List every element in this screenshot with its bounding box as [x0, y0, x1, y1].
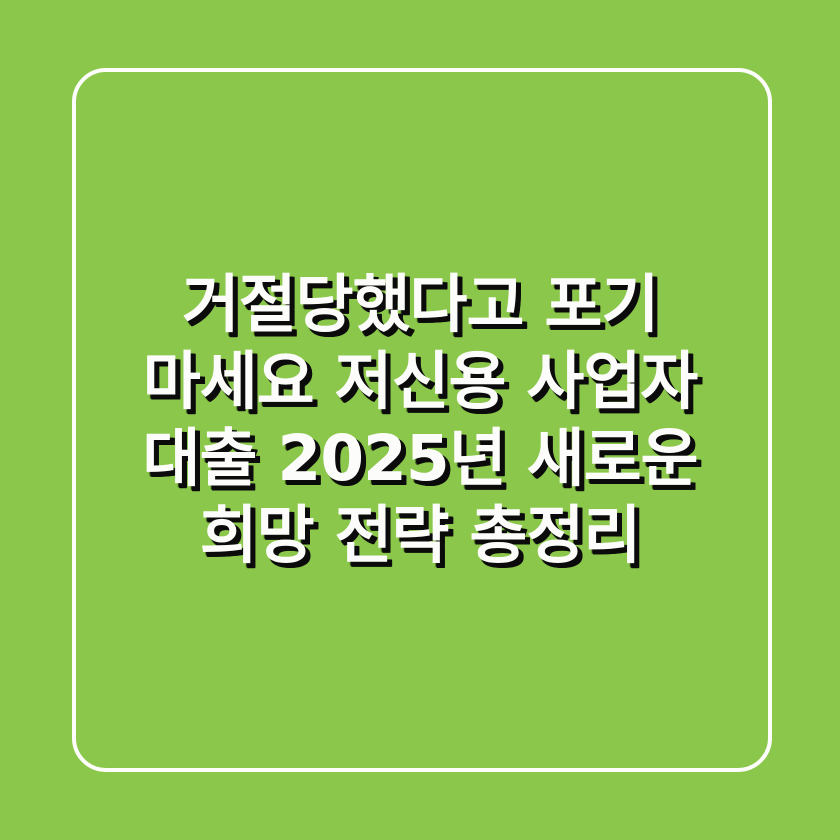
thumbnail-card: 거절당했다고 포기 마세요 저신용 사업자 대출 2025년 새로운 희망 전략… — [0, 0, 840, 840]
headline-line-4: 희망 전략 총정리 — [86, 497, 754, 574]
headline-line-3: 대출 2025년 새로운 — [86, 420, 754, 497]
headline-block: 거절당했다고 포기 마세요 저신용 사업자 대출 2025년 새로운 희망 전략… — [0, 0, 840, 840]
headline-line-1: 거절당했다고 포기 — [86, 266, 754, 343]
headline-line-2: 마세요 저신용 사업자 — [86, 343, 754, 420]
